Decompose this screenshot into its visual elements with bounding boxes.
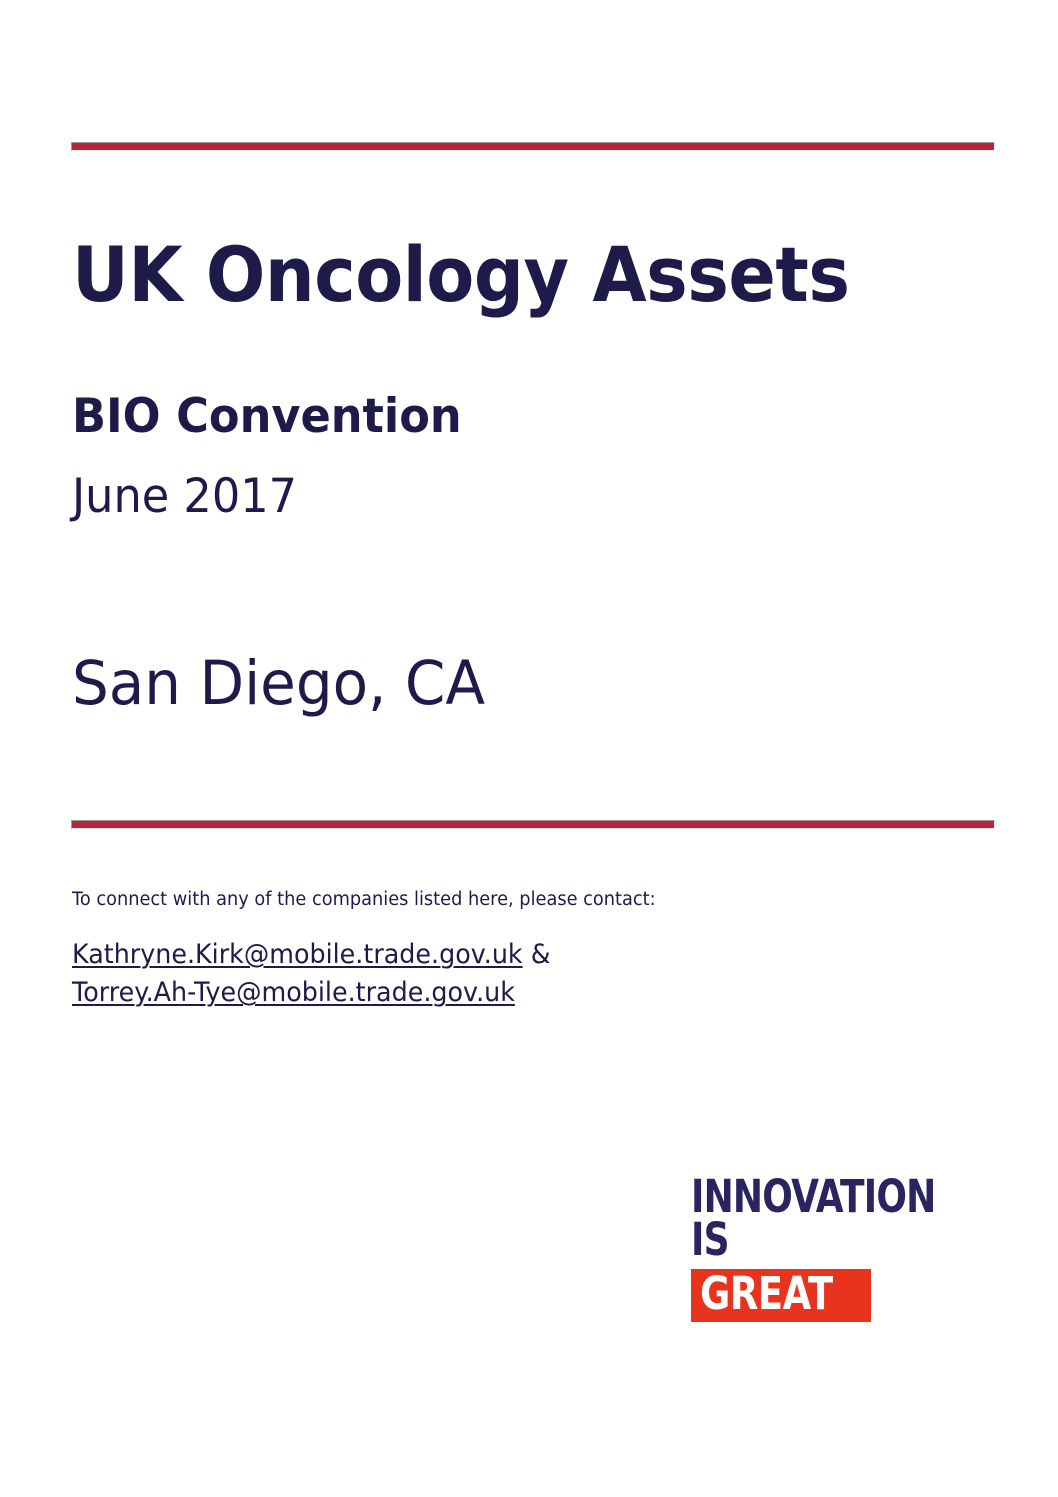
logo-great-badge: GREAT (691, 1269, 871, 1322)
email-line-primary: Kathryne.Kirk@mobile.trade.gov.uk & (72, 936, 551, 974)
contact-email-block: Kathryne.Kirk@mobile.trade.gov.uk & Torr… (72, 936, 551, 1013)
event-name: BIO Convention (72, 392, 462, 443)
logo-line-great: GREAT (700, 1273, 833, 1316)
page-title: UK Oncology Assets (72, 235, 918, 315)
email-line-secondary: Torrey.Ah-Tye@mobile.trade.gov.uk (72, 974, 551, 1012)
contact-instruction-text: To connect with any of the companies lis… (72, 888, 656, 912)
email-link-secondary[interactable]: Torrey.Ah-Tye@mobile.trade.gov.uk (72, 977, 515, 1008)
email-link-primary[interactable]: Kathryne.Kirk@mobile.trade.gov.uk (72, 939, 523, 970)
event-location: San Diego, CA (72, 650, 485, 717)
email-separator-ampersand: & (523, 939, 551, 970)
logo-line-innovation: INNOVATION (691, 1176, 931, 1217)
event-date: June 2017 (72, 472, 297, 523)
innovation-is-great-logo: INNOVATION IS GREAT (691, 1176, 991, 1322)
divider-rule-top (71, 142, 995, 151)
logo-line-is: IS (691, 1219, 931, 1260)
cover-page: UK Oncology Assets BIO Convention June 2… (0, 0, 1058, 1497)
divider-rule-bottom (71, 820, 995, 829)
